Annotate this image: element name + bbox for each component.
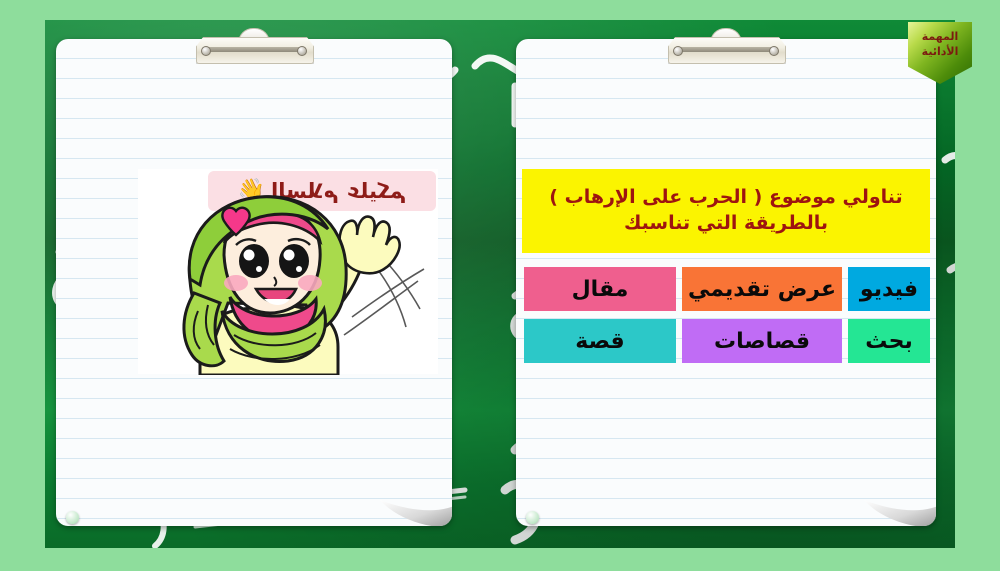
clipboard-clip-left[interactable] [196,28,312,62]
performance-task-badge[interactable]: المهمة الأدائية [908,22,972,84]
option-video[interactable]: فيديو [848,267,930,311]
task-prompt-line-1: تناولي موضوع ( الحرب على الإرهاب ) [549,185,902,211]
clipboard-left-rivet [66,511,79,524]
clipboard-right-rivet [526,511,539,524]
left-board-paper: 👋 السلام عليكم [56,39,452,526]
slide-canvas: 👋 السلام عليكم [0,0,1000,571]
task-options-grid: فيديو عرض تقديمي مقال بحث قصاصات قصة [522,267,930,363]
badge-label: المهمة الأدائية [908,22,972,84]
clipboard-left: 👋 السلام عليكم [56,28,452,536]
page-curl-right [864,476,936,526]
task-prompt-line-2: بالطريقة التي تناسبك [624,211,828,237]
right-board-paper: تناولي موضوع ( الحرب على الإرهاب ) بالطر… [516,39,936,526]
page-curl-left [380,476,452,526]
badge-label-line-2: الأدائية [922,45,959,59]
clip-bar-right [674,47,778,52]
clipboard-clip-right[interactable] [668,28,784,62]
clip-rivet-right-1 [673,46,683,56]
greeting-illustration: 👋 السلام عليكم [138,169,438,374]
option-article[interactable]: مقال [524,267,676,311]
task-prompt-box: تناولي موضوع ( الحرب على الإرهاب ) بالطر… [522,169,930,253]
badge-label-line-1: المهمة [922,30,959,44]
option-presentation[interactable]: عرض تقديمي [682,267,842,311]
option-research[interactable]: بحث [848,319,930,363]
clip-bar-left [202,47,306,52]
clipboard-right: تناولي موضوع ( الحرب على الإرهاب ) بالطر… [516,28,936,536]
option-clippings[interactable]: قصاصات [682,319,842,363]
clip-rivet-left-2 [297,46,307,56]
hijab-girl-illustration [138,185,438,375]
clip-rivet-right-2 [769,46,779,56]
clip-rivet-left-1 [201,46,211,56]
option-story[interactable]: قصة [524,319,676,363]
